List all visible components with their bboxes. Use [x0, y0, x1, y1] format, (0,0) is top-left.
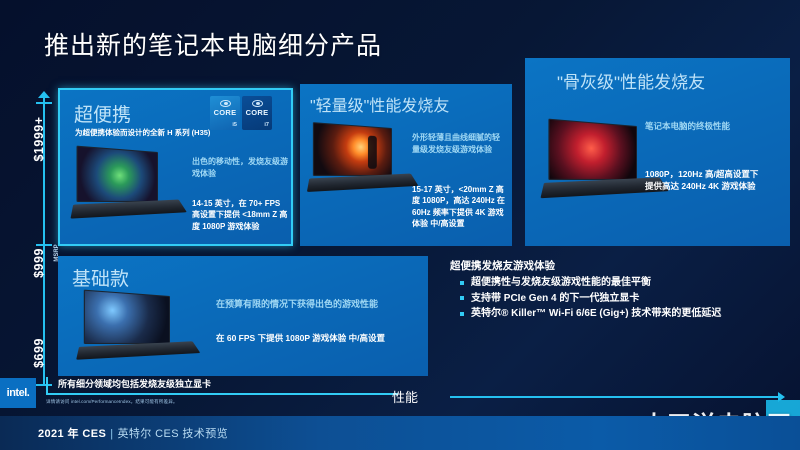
footer-bar: 2021 年 CES|英特尔 CES 技术预览: [0, 416, 800, 450]
intel-logo-text: intel.: [7, 387, 30, 399]
gpu-note-text: 所有细分领域均包括发烧友级独立显卡: [58, 377, 211, 390]
bullet-dot-icon: [460, 296, 464, 300]
core-badge-group: CORE i5 CORE i7: [210, 96, 272, 130]
price-label-699: $699: [32, 322, 46, 384]
panel-ultraportable-tagline: 出色的移动性，发烧友级游戏体验: [192, 156, 288, 179]
panel-ultraportable[interactable]: 超便携 为超便携体验而设计的全新 H 系列 (H35) CORE i5 CORE…: [58, 88, 293, 246]
panel-mainstream[interactable]: 基础款 在预算有限的情况下获得出色的游戏性能 在 60 FPS 下提供 1080…: [58, 256, 428, 376]
laptop-screen: [84, 290, 170, 344]
footer-right: 英特尔 CES 技术预览: [117, 428, 228, 440]
laptop-screen: [77, 146, 158, 202]
laptop-image-ultraportable: [74, 152, 184, 232]
footer-text: 2021 年 CES|英特尔 CES 技术预览: [38, 425, 228, 441]
core-word: CORE: [246, 108, 269, 117]
list-item: 英特尔® Killer™ Wi-Fi 6/6E (Gig+) 技术带来的更低延迟: [450, 307, 790, 321]
laptop-image-enthusiast-light: [310, 128, 416, 206]
performance-axis-label: 性能: [392, 387, 418, 406]
bullet-list: 超便携发烧友游戏体验 超便携性与发烧友级游戏性能的最佳平衡 支持带 PCIe G…: [450, 258, 790, 323]
price-tick-1999: [36, 102, 52, 104]
panel-enthusiast-hardcore-specs: 1080P，120Hz 高/超高设置下提供高达 240Hz 4K 游戏体验: [645, 168, 763, 192]
footnote-text: 详情请访问 intel.com/PerformanceIndex。结果可能有所差…: [46, 399, 178, 405]
panel-enthusiast-hardcore-title: "骨灰级"性能发烧友: [557, 68, 705, 93]
bullet-list-heading: 超便携发烧友游戏体验: [450, 258, 790, 273]
panel-enthusiast-light-tagline: 外形轻薄且曲线细腻的轻量级发烧友级游戏体验: [412, 132, 506, 155]
laptop-base: [70, 199, 186, 218]
core-word: CORE: [214, 108, 237, 117]
bullet-text: 英特尔® Killer™ Wi-Fi 6/6E (Gig+) 技术带来的更低延迟: [471, 307, 721, 321]
intel-swirl-icon: [252, 100, 263, 107]
price-label-1999: $1999+: [32, 108, 46, 170]
bullet-dot-icon: [460, 312, 464, 316]
panel-ultraportable-subtitle: 为超便携体验而设计的全新 H 系列 (H35): [75, 128, 220, 138]
panel-enthusiast-light[interactable]: "轻量级"性能发烧友 外形轻薄且曲线细腻的轻量级发烧友级游戏体验 15-17 英…: [300, 84, 512, 246]
footer-left: 2021 年 CES: [38, 428, 106, 440]
page-title: 推出新的笔记本电脑细分产品: [44, 26, 382, 62]
footer-separator: |: [110, 428, 113, 440]
panel-enthusiast-hardcore[interactable]: "骨灰级"性能发烧友 笔记本电脑的终极性能 1080P，120Hz 高/超高设置…: [525, 58, 790, 246]
slide-root: 推出新的笔记本电脑细分产品 $1999+ $999 $699 MSRP 超便携 …: [0, 0, 800, 450]
core-tier: i5: [232, 122, 237, 128]
screen-figure: [368, 136, 377, 169]
intel-logo: intel.: [0, 378, 36, 408]
core-tier: i7: [264, 122, 269, 128]
list-item: 支持带 PCIe Gen 4 的下一代独立显卡: [450, 292, 790, 306]
panel-ultraportable-specs: 14-15 英寸，在 70+ FPS 高设置下提供 <18mm Z 高度 108…: [192, 198, 290, 232]
panel-mainstream-specs: 在 60 FPS 下提供 1080P 游戏体验 中/高设置: [216, 332, 416, 344]
laptop-screen: [548, 119, 637, 180]
laptop-screen: [313, 122, 392, 176]
panel-mainstream-title: 基础款: [72, 264, 129, 291]
bullet-dot-icon: [460, 281, 464, 285]
price-label-999: $999: [32, 232, 46, 294]
panel-enthusiast-hardcore-tagline: 笔记本电脑的终极性能: [645, 120, 765, 132]
performance-axis-line: [450, 396, 780, 398]
panel-enthusiast-light-title: "轻量级"性能发烧友: [310, 92, 449, 116]
price-axis: $1999+ $999 $699 MSRP: [24, 96, 54, 386]
laptop-image-mainstream: [80, 296, 200, 368]
intel-core-i7-badge-icon: CORE i7: [242, 96, 272, 130]
bullet-text: 支持带 PCIe Gen 4 的下一代独立显卡: [471, 292, 639, 306]
laptop-base: [307, 174, 419, 192]
panel-enthusiast-light-specs: 15-17 英寸，<20mm Z 高度 1080P，高达 240Hz 在 60H…: [412, 184, 510, 229]
list-item: 超便携性与发烧友级游戏性能的最佳平衡: [450, 276, 790, 290]
panel-ultraportable-title: 超便携: [74, 100, 131, 127]
bullet-text: 超便携性与发烧友级游戏性能的最佳平衡: [471, 276, 651, 290]
intel-core-i5-badge-icon: CORE i5: [210, 96, 240, 130]
laptop-base: [76, 341, 200, 359]
intel-swirl-icon: [220, 100, 231, 107]
panel-mainstream-tagline: 在预算有限的情况下获得出色的游戏性能: [216, 298, 416, 311]
